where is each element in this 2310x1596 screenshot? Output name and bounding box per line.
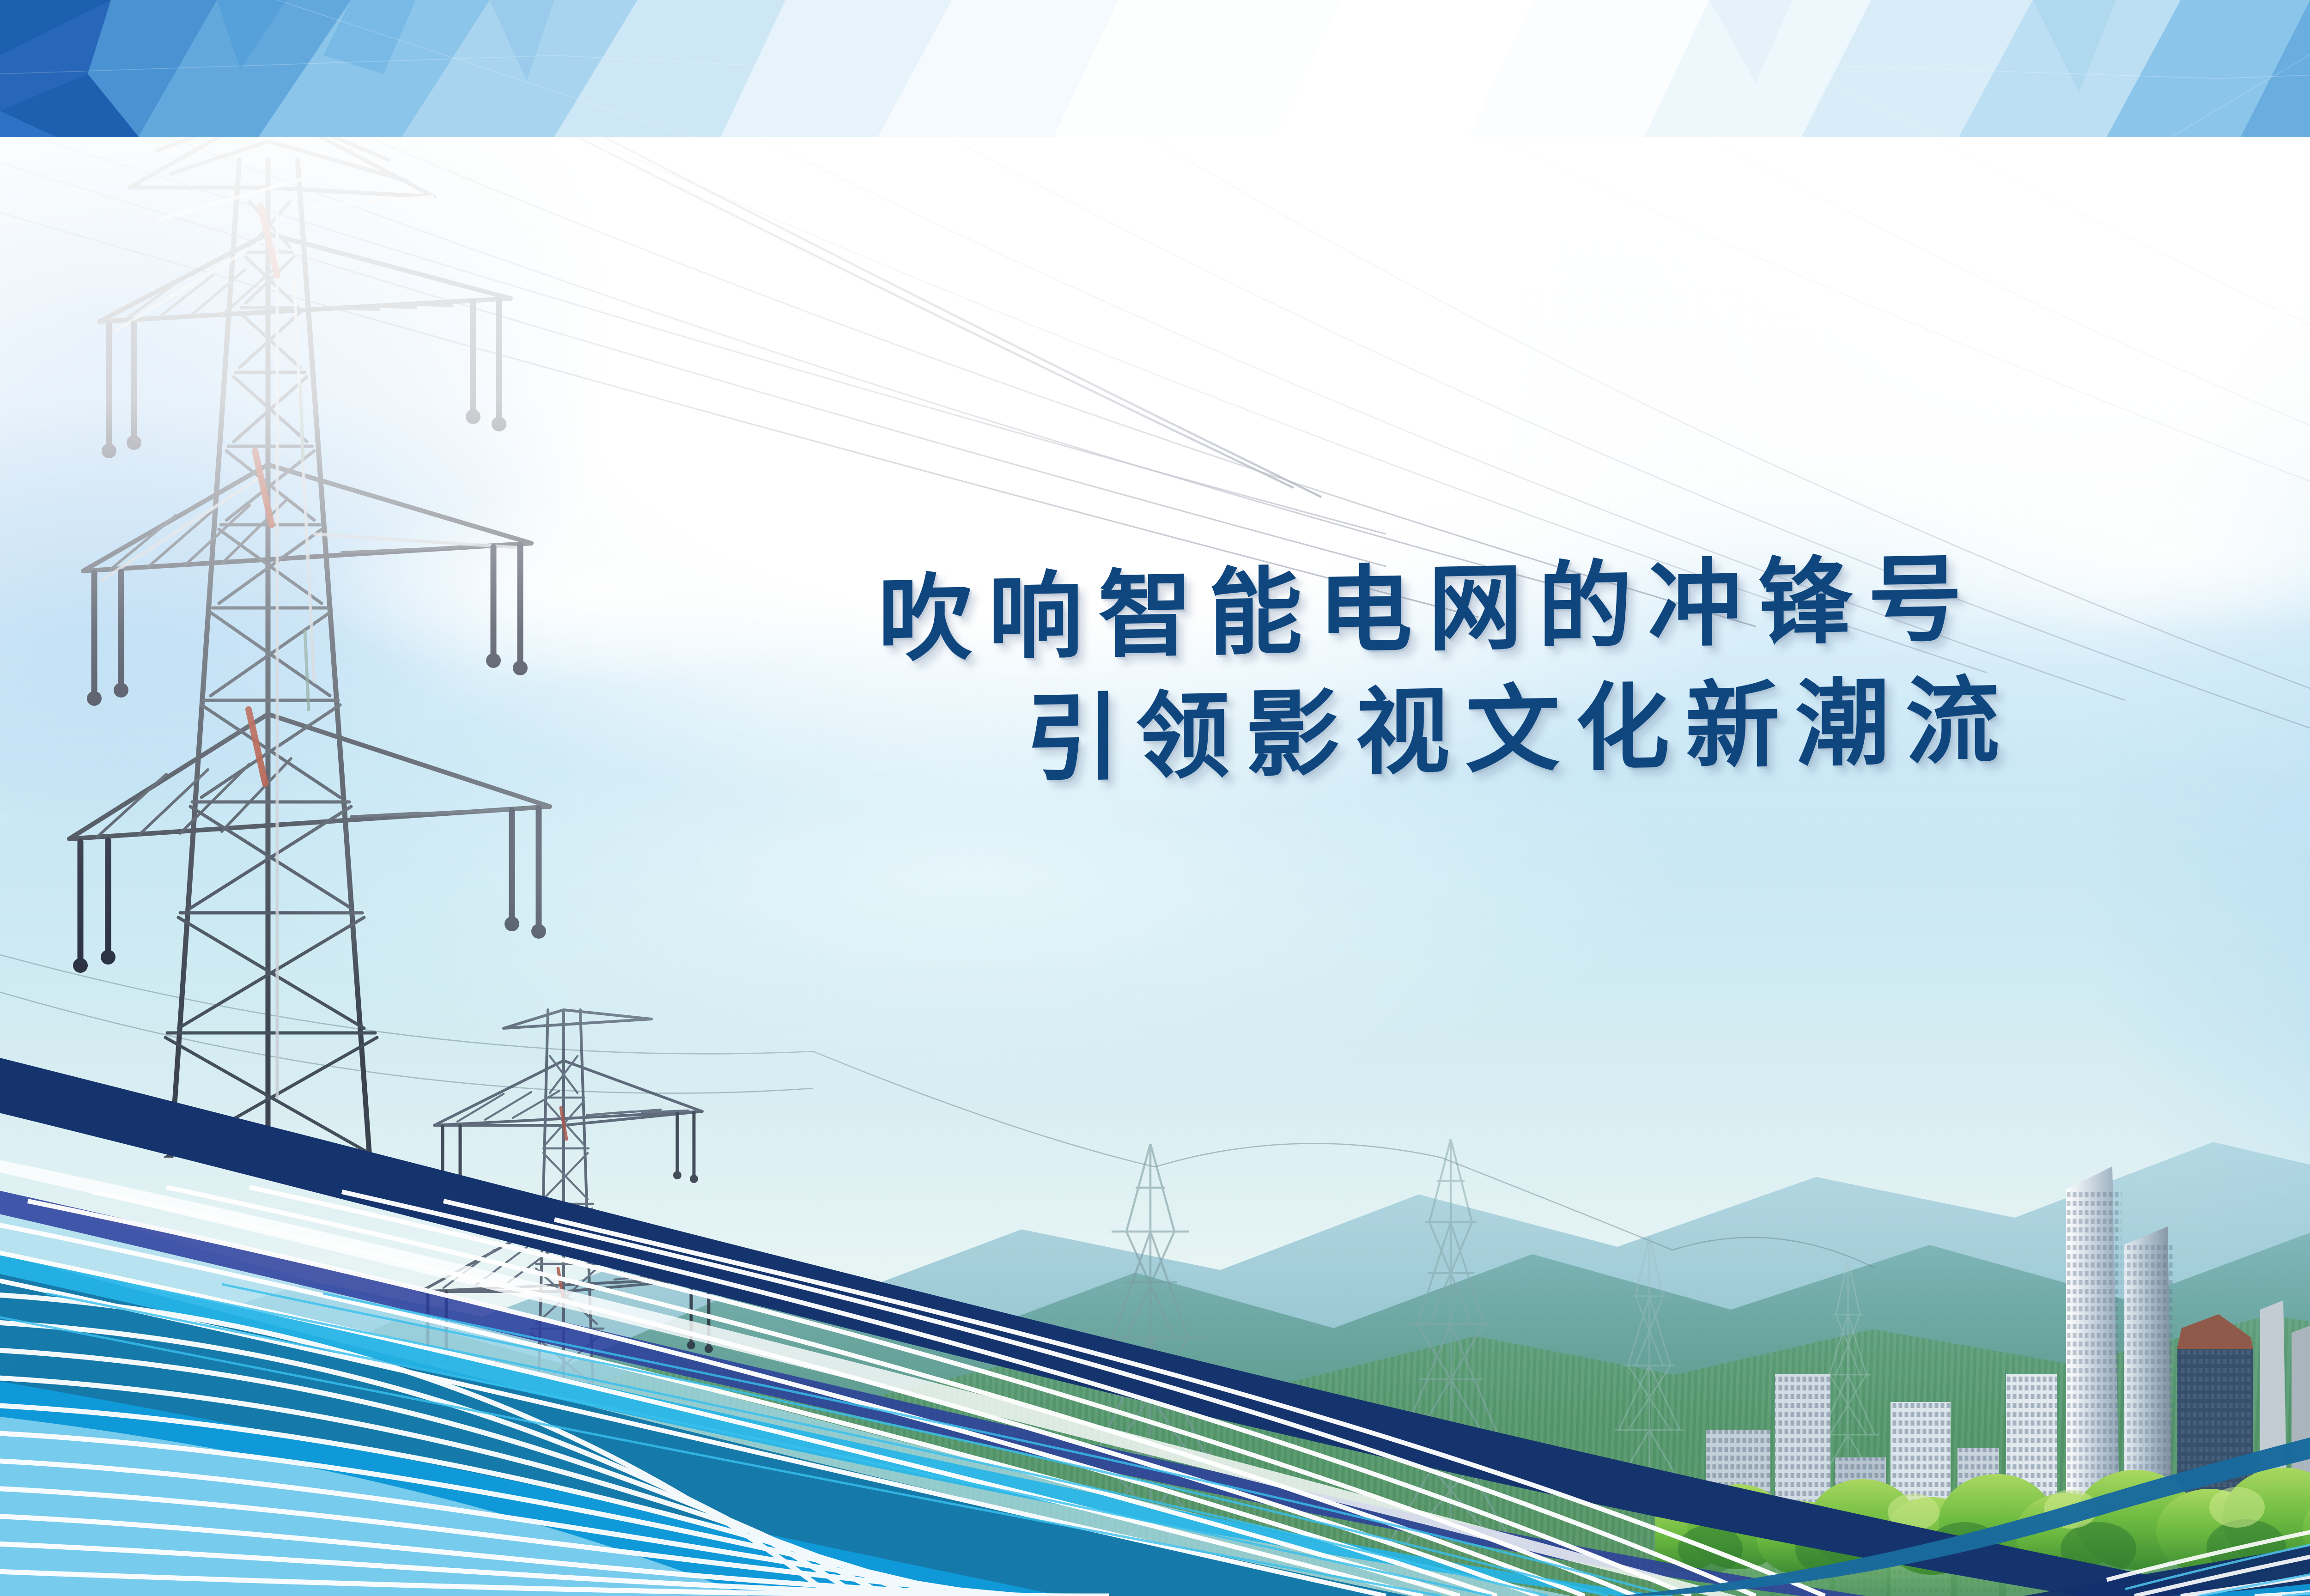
pylon-foreground-left — [18, 137, 591, 1158]
poster-root: 吹响智能电网的冲锋号 引领影视文化新潮流 — [0, 0, 2310, 1596]
low-poly-svg — [0, 0, 2310, 137]
city-treeline-svg — [1655, 1439, 2310, 1596]
pylon-hill-right — [1381, 1139, 1520, 1546]
landscape-scene — [0, 137, 2310, 1596]
low-poly-header-band — [0, 0, 2310, 137]
pylon-foreground-left-svg — [18, 137, 591, 1158]
pylon-hill-right-svg — [1381, 1139, 1520, 1546]
city-treeline — [1655, 1439, 2310, 1596]
pylon-mid-centre — [1072, 1144, 1229, 1573]
pylon-mid-centre-svg — [1072, 1144, 1229, 1573]
